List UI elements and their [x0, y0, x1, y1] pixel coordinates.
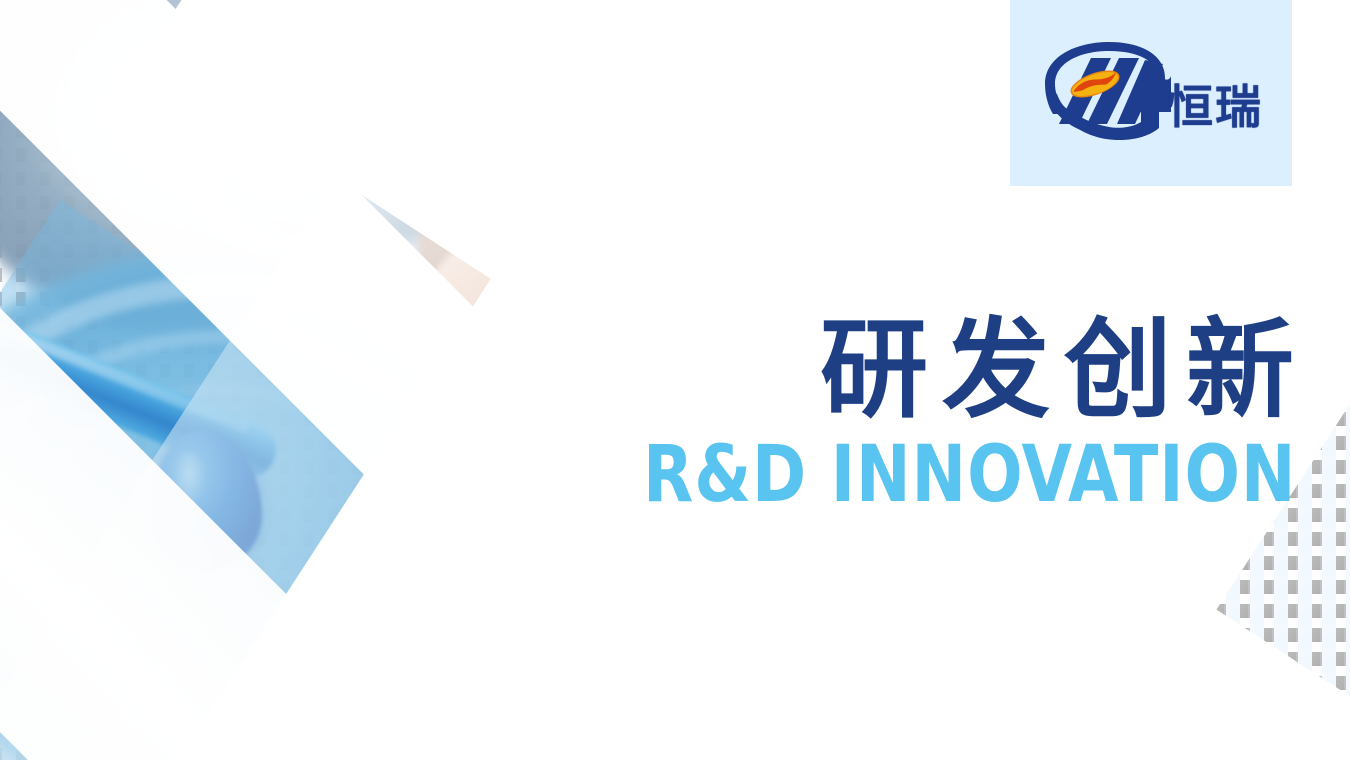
headline-block: 研发创新 R&D INNOVATION — [594, 316, 1294, 514]
brand-logo-lockup: 恒瑞 — [1039, 38, 1263, 148]
brand-logo-panel[interactable]: 恒瑞 — [1010, 0, 1292, 186]
page-title-cn: 研发创新 — [594, 316, 1308, 426]
banner-content: 恒瑞 研发创新 R&D INNOVATION — [0, 0, 1350, 760]
hengrui-logo-icon — [1039, 38, 1171, 148]
rd-innovation-banner: 恒瑞 研发创新 R&D INNOVATION — [0, 0, 1350, 760]
page-subtitle-en: R&D INNOVATION — [643, 436, 1294, 514]
brand-name-cn: 恒瑞 — [1167, 84, 1263, 130]
